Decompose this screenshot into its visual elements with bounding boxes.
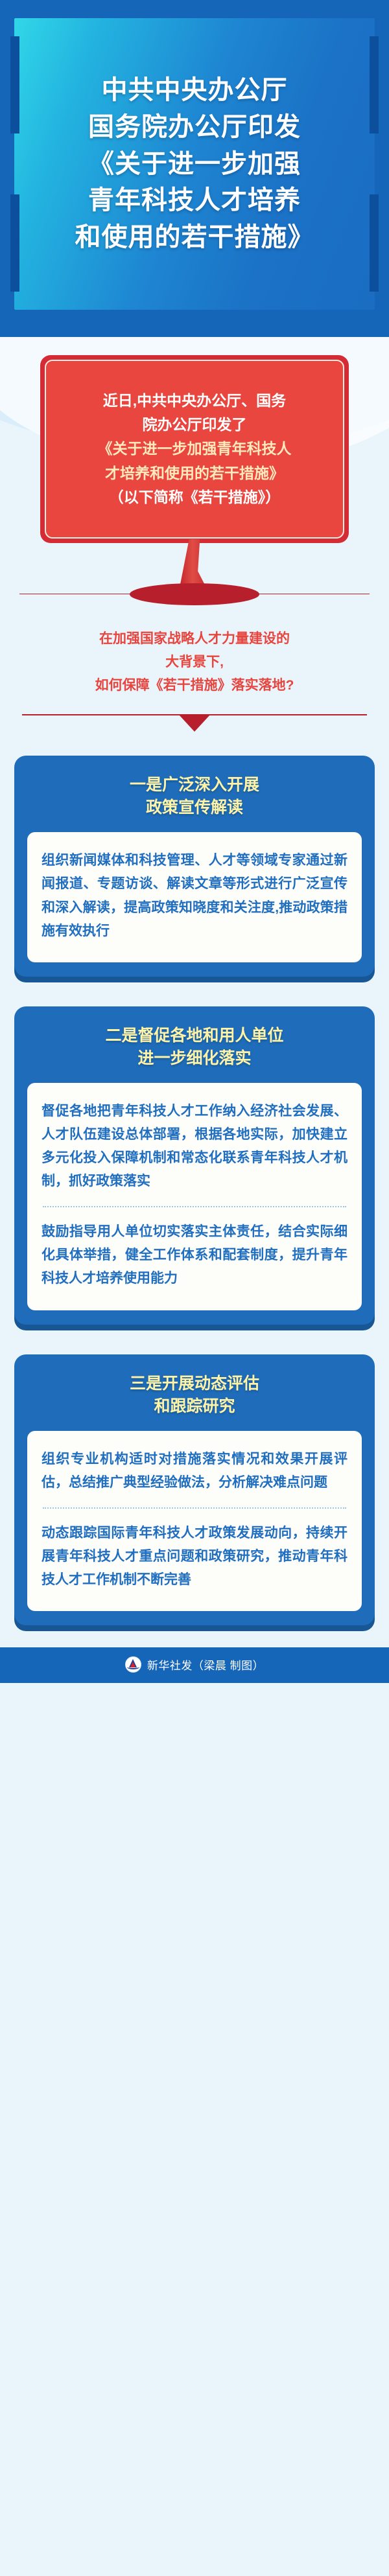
measure-section-2-paragraph-2: 鼓励指导用人单位切实落实主体责任，结合实际细化具体举措，健全工作体系和配套制度，…	[41, 1220, 348, 1290]
intro-card: 近日,中共中央办公厅、国务院办公厅印发了《关于进一步加强青年科技人才培养和使用的…	[40, 355, 349, 543]
intro-card-inner: 近日,中共中央办公厅、国务院办公厅印发了《关于进一步加强青年科技人才培养和使用的…	[45, 360, 344, 539]
xinhua-logo-icon	[125, 1656, 141, 1673]
measure-section-3-title: 三是开展动态评估和跟踪研究	[27, 1369, 362, 1431]
divider-arrow-icon	[179, 715, 210, 732]
measure-section-3: 三是开展动态评估和跟踪研究组织专业机构适时对措施落实情况和效果开展评估，总结推广…	[14, 1354, 375, 1626]
measure-section-3-paragraph-2: 动态跟踪国际青年科技人才政策发展动向，持续开展青年科技人才重点问题和政策研究，推…	[41, 1522, 348, 1592]
measure-section-1-title: 一是广泛深入开展政策宣传解读	[27, 770, 362, 832]
measure-section-2: 二是督促各地和用人单位进一步细化落实督促各地把青年科技人才工作纳入经济社会发展、…	[14, 1006, 375, 1325]
measure-section-3-body: 组织专业机构适时对措施落实情况和效果开展评估，总结推广典型经验做法，分析解决难点…	[27, 1431, 362, 1612]
question-block: 在加强国家战略人才力量建设的大背景下,如何保障《若干措施》落实落地?	[0, 622, 389, 714]
measure-section-3-paragraph-1: 组织专业机构适时对措施落实情况和效果开展评估，总结推广典型经验做法，分析解决难点…	[41, 1448, 348, 1494]
footer-text: 新华社发（梁晨 制图）	[147, 1656, 264, 1673]
measure-section-3-title-line-2: 和跟踪研究	[27, 1395, 362, 1418]
question-text: 在加强国家战略人才力量建设的大背景下,如何保障《若干措施》落实落地?	[13, 627, 376, 697]
footer-credit: 新华社发（梁晨 制图）	[0, 1647, 389, 1683]
page-title-line-2: 国务院办公厅印发	[23, 109, 366, 146]
header-banner: 中共中央办公厅国务院办公厅印发《关于进一步加强青年科技人才培养和使用的若干措施》	[0, 0, 389, 337]
intro-card-line-2: 院办公厅印发了	[98, 413, 292, 437]
podium-base-decoration	[130, 583, 259, 605]
measure-section-2-title: 二是督促各地和用人单位进一步细化落实	[27, 1021, 362, 1083]
measure-section-2-paragraph-1: 督促各地把青年科技人才工作纳入经济社会发展、人才队伍建设总体部署，根据各地实际，…	[41, 1100, 348, 1193]
podium-ground-line	[19, 594, 370, 594]
measures-list: 一是广泛深入开展政策宣传解读组织新闻媒体和科技管理、人才等领域专家通过新闻报道、…	[0, 736, 389, 1647]
page-title: 中共中央办公厅国务院办公厅印发《关于进一步加强青年科技人才培养和使用的若干措施》	[14, 72, 375, 256]
page-title-line-3: 《关于进一步加强	[23, 146, 366, 183]
question-line-2: 大背景下,	[13, 651, 376, 674]
measure-section-3-title-line-1: 三是开展动态评估	[27, 1373, 362, 1395]
section-divider	[0, 714, 389, 736]
page-title-line-5: 和使用的若干措施》	[23, 219, 366, 256]
intro-card-line-3: 《关于进一步加强青年科技人	[98, 437, 292, 461]
measure-section-1-title-line-2: 政策宣传解读	[27, 796, 362, 819]
measure-section-1-paragraph-1: 组织新闻媒体和科技管理、人才等领域专家通过新闻报道、专题访谈、解读文章等形式进行…	[41, 849, 348, 942]
measure-section-2-title-line-2: 进一步细化落实	[27, 1047, 362, 1070]
intro-card-line-5: （以下简称《若干措施》）	[98, 485, 292, 509]
intro-card-line-4: 才培养和使用的若干措施》	[98, 461, 292, 485]
intro-card-zone: 近日,中共中央办公厅、国务院办公厅印发了《关于进一步加强青年科技人才培养和使用的…	[0, 337, 389, 622]
infographic-page: 中共中央办公厅国务院办公厅印发《关于进一步加强青年科技人才培养和使用的若干措施》…	[0, 0, 389, 2576]
paragraph-separator	[43, 1507, 346, 1509]
header-plate: 中共中央办公厅国务院办公厅印发《关于进一步加强青年科技人才培养和使用的若干措施》	[14, 18, 375, 310]
question-line-1: 在加强国家战略人才力量建设的	[13, 627, 376, 651]
question-line-3: 如何保障《若干措施》落实落地?	[13, 674, 376, 697]
paragraph-separator	[43, 1206, 346, 1207]
measure-section-2-body: 督促各地把青年科技人才工作纳入经济社会发展、人才队伍建设总体部署，根据各地实际，…	[27, 1083, 362, 1310]
xinhua-logo-ring	[127, 1665, 139, 1669]
page-title-line-1: 中共中央办公厅	[23, 72, 366, 109]
intro-card-text: 近日,中共中央办公厅、国务院办公厅印发了《关于进一步加强青年科技人才培养和使用的…	[98, 389, 292, 509]
page-title-line-4: 青年科技人才培养	[23, 182, 366, 219]
measure-section-2-title-line-1: 二是督促各地和用人单位	[27, 1025, 362, 1047]
intro-card-line-1: 近日,中共中央办公厅、国务	[98, 389, 292, 413]
measure-section-1-title-line-1: 一是广泛深入开展	[27, 774, 362, 796]
measure-section-1-body: 组织新闻媒体和科技管理、人才等领域专家通过新闻报道、专题访谈、解读文章等形式进行…	[27, 832, 362, 962]
measure-section-1: 一是广泛深入开展政策宣传解读组织新闻媒体和科技管理、人才等领域专家通过新闻报道、…	[14, 756, 375, 976]
